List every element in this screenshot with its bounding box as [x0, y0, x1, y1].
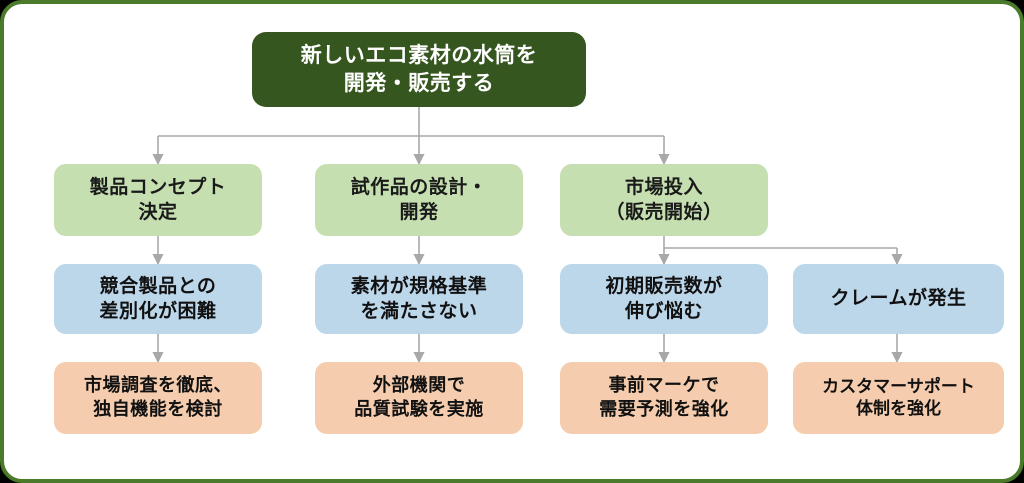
action-node-3[interactable]: 事前マーケで 需要予測を強化 — [560, 362, 768, 434]
risk-node-1[interactable]: 競合製品との 差別化が困難 — [54, 264, 262, 334]
phase-node-1[interactable]: 製品コンセプト 決定 — [54, 164, 262, 236]
action-node-1[interactable]: 市場調査を徹底、 独自機能を検討 — [54, 362, 262, 434]
phase-node-2[interactable]: 試作品の設計・ 開発 — [315, 164, 523, 236]
risk-node-2[interactable]: 素材が規格基準 を満たさない — [315, 264, 523, 334]
action-node-4[interactable]: カスタマーサポート 体制を強化 — [793, 362, 1004, 434]
risk-node-3[interactable]: 初期販売数が 伸び悩む — [560, 264, 768, 334]
root-node-goal[interactable]: 新しいエコ素材の水筒を 開発・販売する — [252, 32, 586, 107]
phase-node-3[interactable]: 市場投入 （販売開始） — [560, 164, 768, 236]
action-node-2[interactable]: 外部機関で 品質試験を実施 — [315, 362, 523, 434]
risk-node-4[interactable]: クレームが発生 — [793, 264, 1004, 334]
diagram-canvas: 新しいエコ素材の水筒を 開発・販売する 製品コンセプト 決定 試作品の設計・ 開… — [0, 0, 1024, 483]
